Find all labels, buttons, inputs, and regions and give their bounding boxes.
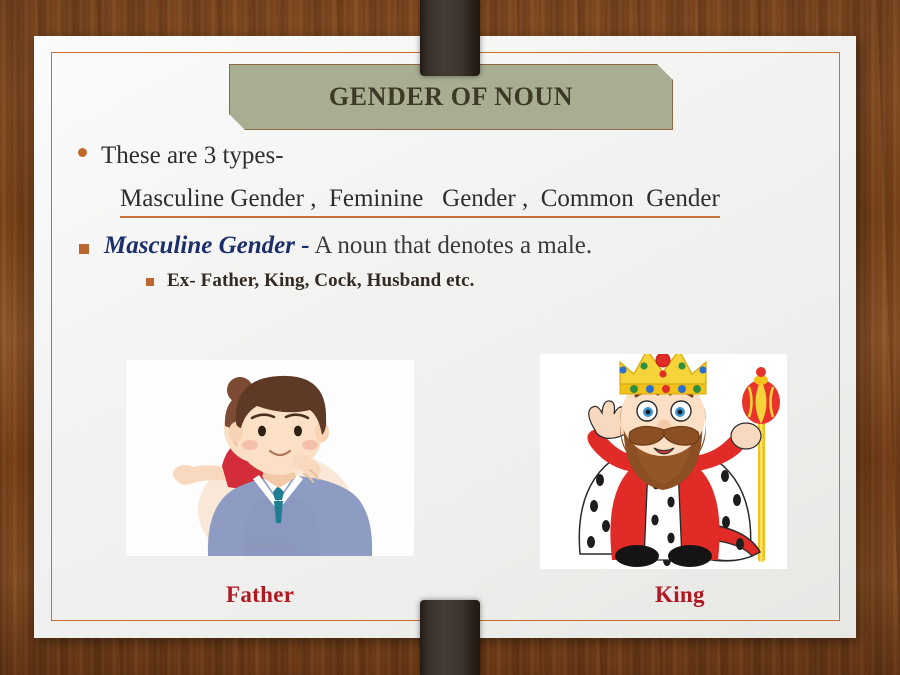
bullet-item-masculine: Masculine Gender - A noun that denotes a…: [51, 232, 840, 260]
bullet-item-types: These are 3 types-: [51, 138, 840, 171]
caption-king: King: [655, 582, 705, 608]
bullet-item-example: Ex- Father, King, Cock, Husband etc.: [51, 270, 840, 292]
square-bullet-icon: [79, 244, 89, 254]
slide-panel: GENDER OF NOUN These are 3 types- Mascul…: [34, 36, 856, 638]
image-watermark: pngtree.com: [243, 540, 290, 549]
intro-text: These are 3 types-: [101, 141, 284, 171]
clip-band-bottom: [420, 600, 480, 675]
picture-row: pngtree.com: [51, 360, 840, 610]
clip-band-top: [420, 0, 480, 76]
father-illustration: pngtree.com: [126, 360, 414, 556]
small-square-bullet-icon: [146, 278, 154, 286]
page-title: GENDER OF NOUN: [329, 82, 573, 112]
bullet-item-types-body: These are 3 types-: [101, 141, 284, 171]
father-illustration-svg: [126, 360, 414, 556]
king-illustration: [540, 354, 787, 569]
gender-types-text: Masculine Gender , Feminine Gender , Com…: [120, 185, 720, 218]
king-illustration-svg: [540, 354, 787, 569]
caption-father: Father: [226, 582, 294, 608]
masculine-label: Masculine Gender -: [104, 232, 310, 259]
example-text: Ex- Father, King, Cock, Husband etc.: [167, 270, 474, 292]
masculine-definition: A noun that denotes a male.: [310, 232, 593, 259]
round-bullet-icon: [78, 148, 87, 157]
masculine-line: Masculine Gender - A noun that denotes a…: [104, 232, 592, 260]
slide-body: These are 3 types- Masculine Gender , Fe…: [51, 138, 840, 621]
gender-types-line-wrap: Masculine Gender , Feminine Gender , Com…: [51, 171, 840, 218]
